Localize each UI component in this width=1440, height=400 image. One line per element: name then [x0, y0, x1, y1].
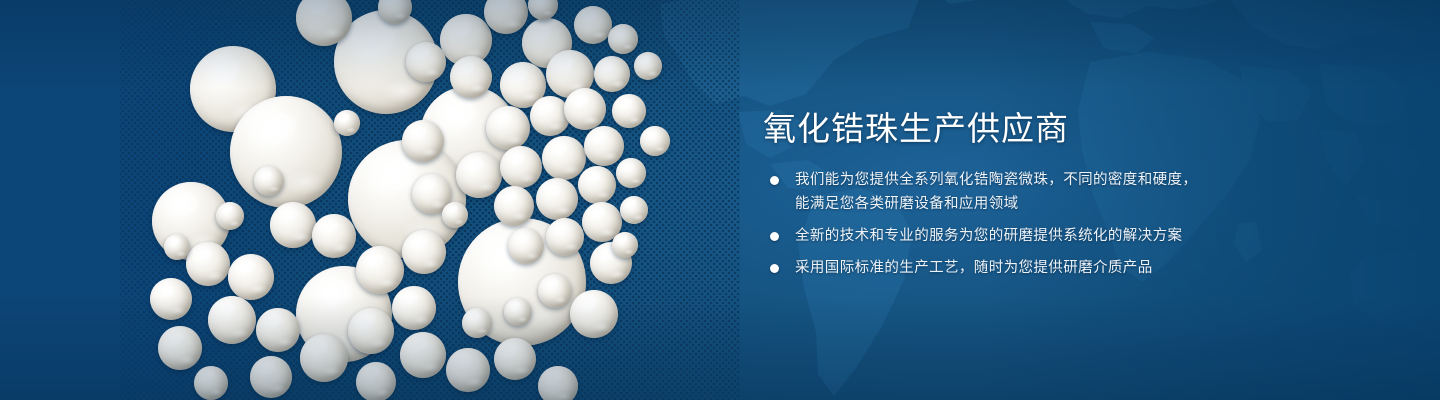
list-item-line: 能满足您各类研磨设备和应用领域 — [795, 192, 1235, 216]
list-item-line: 我们能为您提供全系列氧化锆陶瓷微珠，不同的密度和硬度， — [795, 168, 1235, 192]
list-item-line: 采用国际标准的生产工艺，随时为您提供研磨介质产品 — [795, 256, 1235, 280]
banner-content: 氧化锆珠生产供应商 我们能为您提供全系列氧化锆陶瓷微珠，不同的密度和硬度， 能满… — [763, 0, 1363, 400]
bullet-dot-icon — [770, 232, 779, 241]
list-item: 我们能为您提供全系列氧化锆陶瓷微珠，不同的密度和硬度， 能满足您各类研磨设备和应… — [765, 168, 1235, 216]
list-item-line: 全新的技术和专业的服务为您的研磨提供系统化的解决方案 — [795, 224, 1235, 248]
banner-headline: 氧化锆珠生产供应商 — [763, 110, 1069, 148]
hero-banner: 氧化锆珠生产供应商 我们能为您提供全系列氧化锆陶瓷微珠，不同的密度和硬度， 能满… — [0, 0, 1440, 400]
bullet-dot-icon — [770, 264, 779, 273]
list-item: 采用国际标准的生产工艺，随时为您提供研磨介质产品 — [765, 256, 1235, 280]
bullet-dot-icon — [770, 176, 779, 185]
feature-list: 我们能为您提供全系列氧化锆陶瓷微珠，不同的密度和硬度， 能满足您各类研磨设备和应… — [765, 168, 1235, 280]
list-item: 全新的技术和专业的服务为您的研磨提供系统化的解决方案 — [765, 224, 1235, 248]
